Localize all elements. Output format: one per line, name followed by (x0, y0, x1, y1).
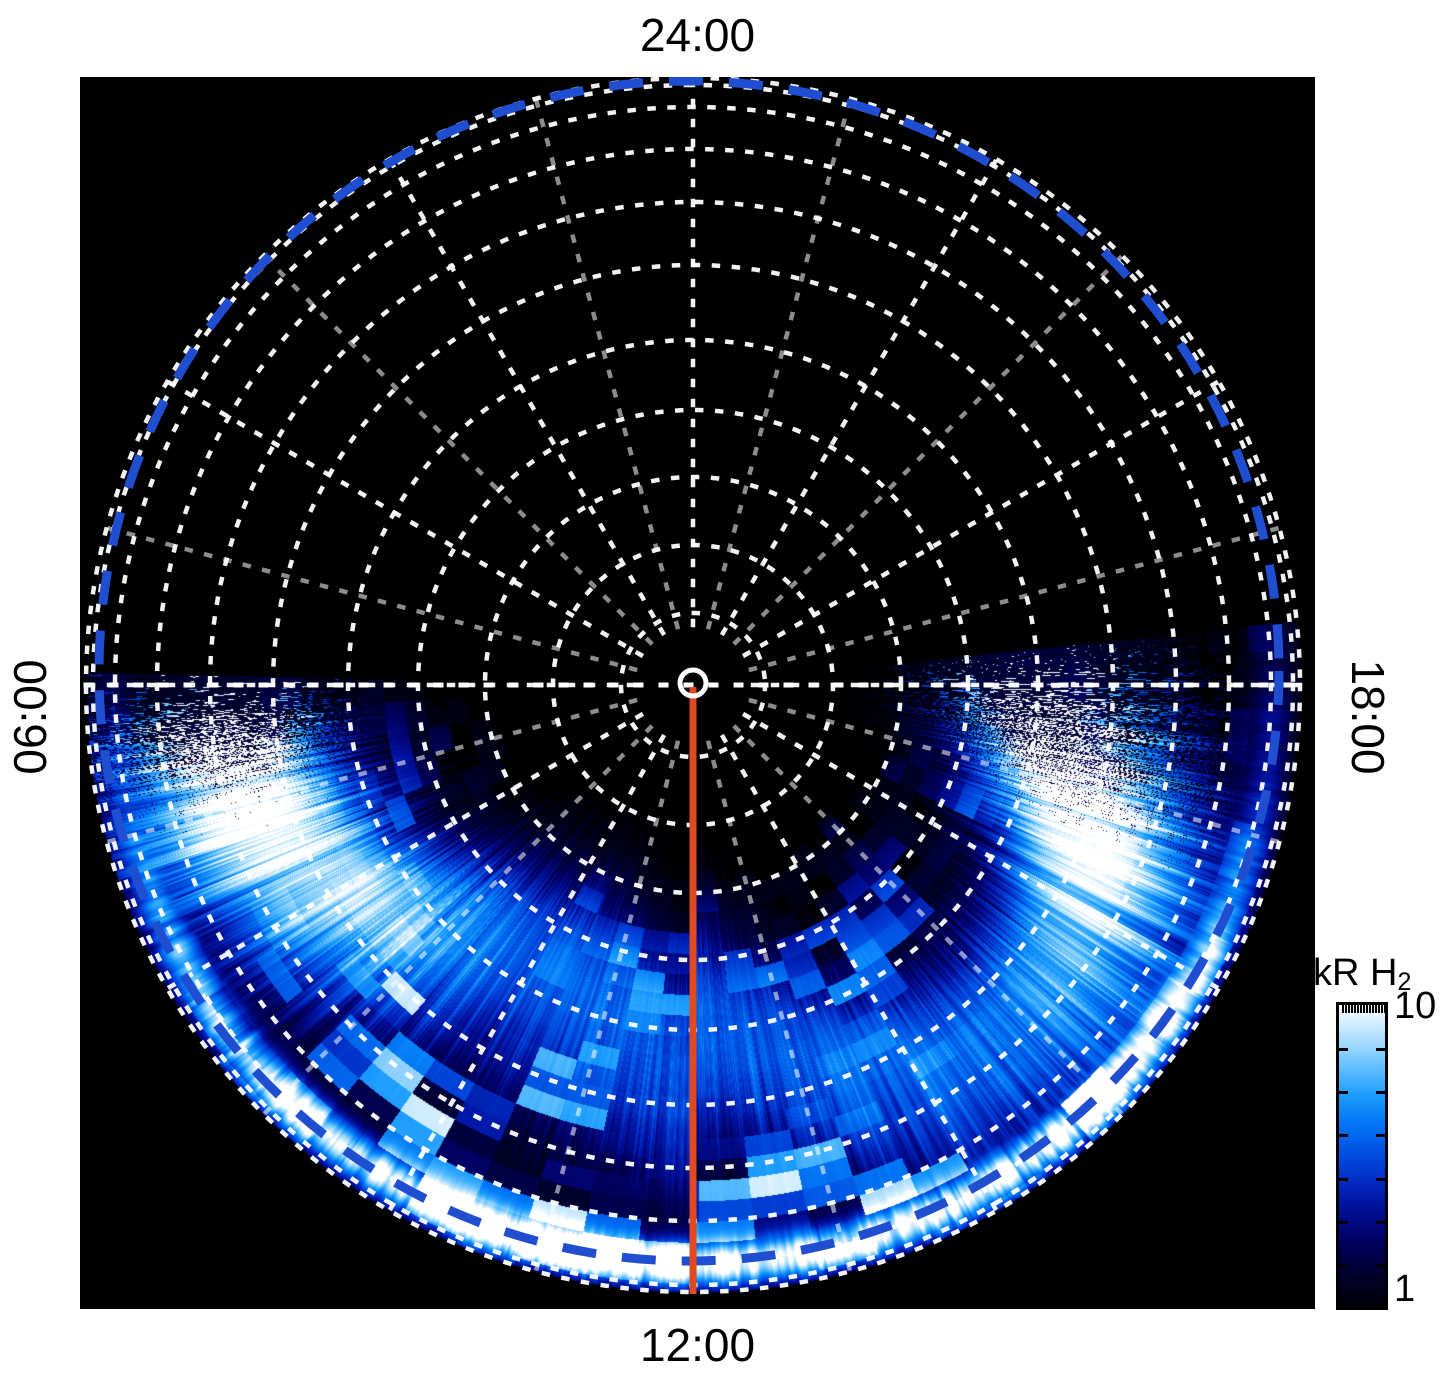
colorbar-tick (1339, 1178, 1348, 1181)
colorbar-tick (1376, 1134, 1385, 1137)
polar-grid-overlay (80, 77, 1315, 1309)
colorbar-tick (1376, 1221, 1385, 1224)
colorbar-tick (1381, 1005, 1383, 1013)
colorbar-max-label: 10 (1394, 985, 1436, 1028)
colorbar-tick (1366, 1005, 1368, 1013)
colorbar-tick (1376, 1178, 1385, 1181)
colorbar-tick (1372, 1005, 1374, 1013)
colorbar[interactable] (1336, 1002, 1388, 1310)
colorbar-tick (1378, 1005, 1380, 1013)
colorbar-tick (1339, 1048, 1348, 1051)
colorbar-tick (1357, 1005, 1359, 1013)
axis-label-bottom: 12:00 (0, 1318, 1395, 1372)
colorbar-tick (1339, 1091, 1348, 1094)
colorbar-tick (1369, 1005, 1371, 1013)
colorbar-tick (1339, 1221, 1348, 1224)
colorbar-tick (1360, 1005, 1362, 1013)
colorbar-tick (1376, 1048, 1385, 1051)
axis-label-right: 18:00 (1341, 617, 1395, 817)
colorbar-tick (1339, 1134, 1348, 1137)
colorbar-title-main: kR H (1313, 952, 1397, 994)
colorbar-tick (1339, 1264, 1348, 1267)
colorbar-tick (1384, 1005, 1386, 1013)
polar-plot-area[interactable] (80, 77, 1315, 1309)
axis-label-left: 06:00 (3, 617, 57, 817)
colorbar-tick (1375, 1005, 1377, 1013)
figure-root: 24:00 12:00 06:00 18:00 kR H2 10 1 (0, 0, 1447, 1384)
colorbar-tick (1376, 1091, 1385, 1094)
colorbar-tick (1363, 1005, 1365, 1013)
colorbar-tick (1376, 1264, 1385, 1267)
colorbar-min-label: 1 (1394, 1268, 1415, 1311)
colorbar-tick (1348, 1005, 1350, 1013)
colorbar-tick (1354, 1005, 1356, 1013)
colorbar-tick (1351, 1005, 1353, 1013)
colorbar-tick (1345, 1005, 1347, 1013)
colorbar-tick (1342, 1005, 1344, 1013)
axis-label-top: 24:00 (0, 8, 1395, 62)
